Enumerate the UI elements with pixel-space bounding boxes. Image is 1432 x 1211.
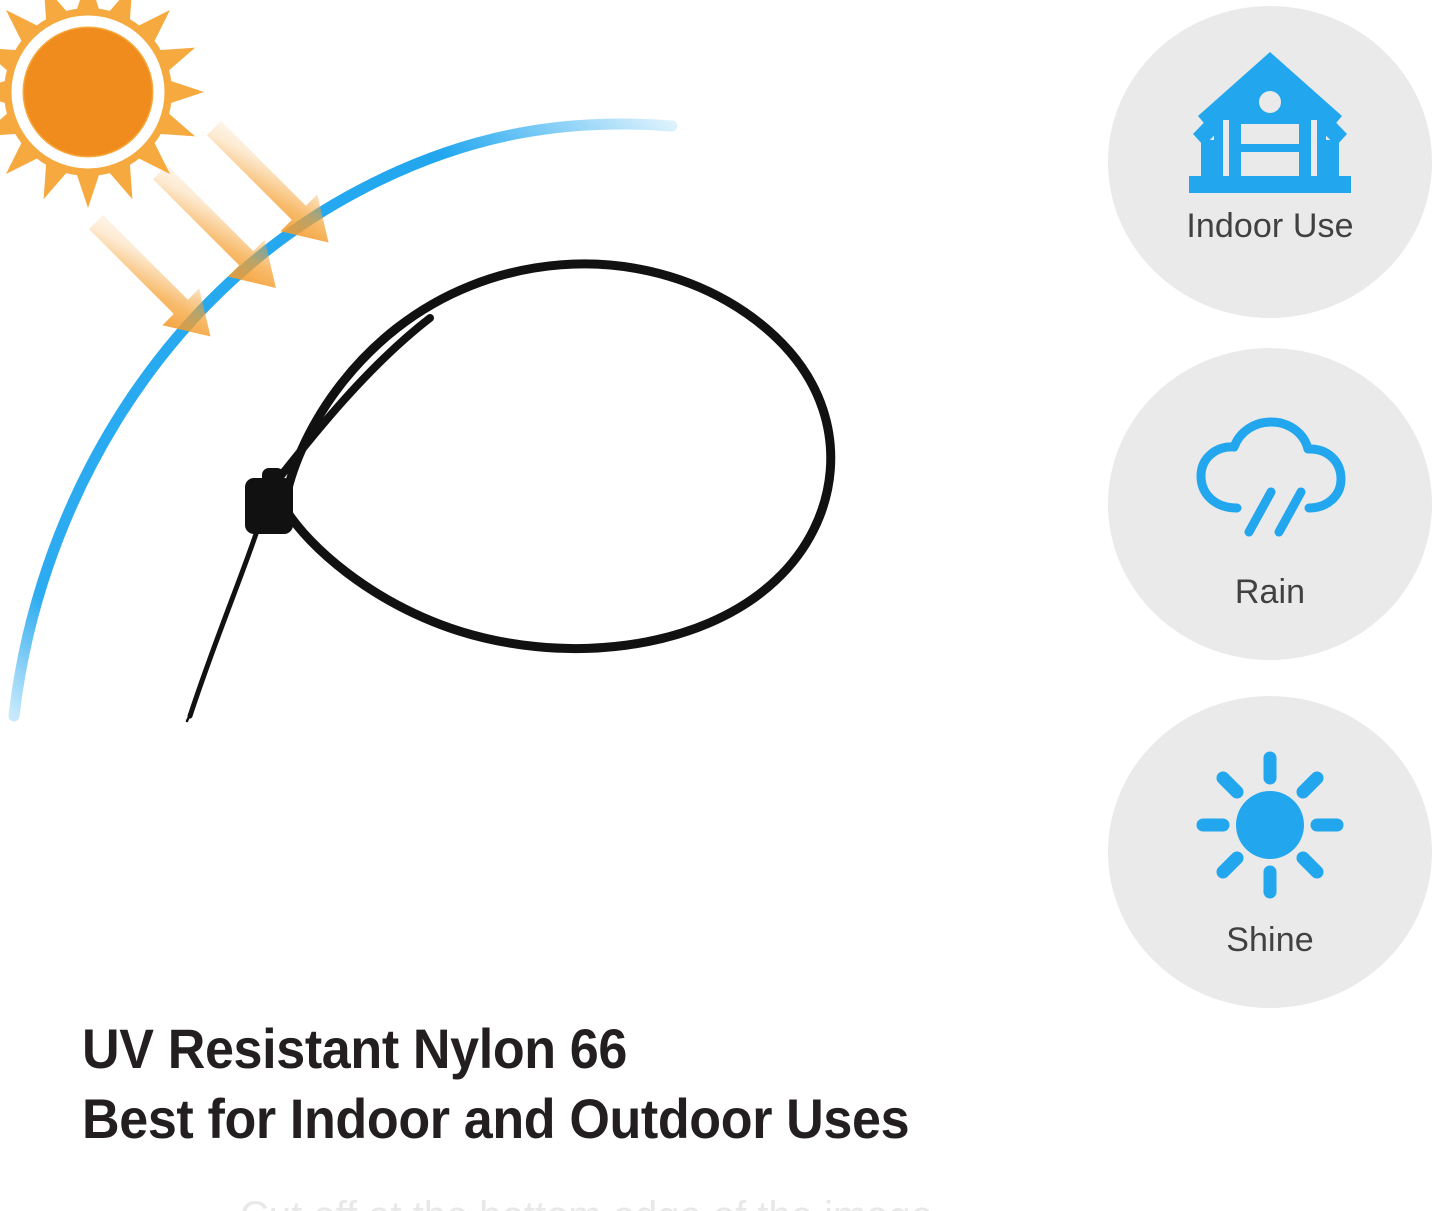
rain-cloud-icon	[1185, 406, 1355, 556]
house-icon	[1185, 48, 1355, 198]
feature-badge-indoor-use[interactable]: Indoor Use	[1108, 6, 1432, 318]
feature-badge-label: Indoor Use	[1186, 208, 1353, 245]
headline-line-2: Best for Indoor and Outdoor Uses	[82, 1084, 1012, 1154]
uv-exposure-cable-tie-illustration	[0, 0, 1100, 1000]
headline-block: UV Resistant Nylon 66 Best for Indoor an…	[82, 1014, 1082, 1154]
feature-badge-label: Rain	[1235, 574, 1305, 611]
footer-text-line: Cut off at the bottom edge of the image	[240, 1196, 1140, 1211]
sun-shine-icon	[1185, 750, 1355, 900]
feature-badge-label: Shine	[1226, 922, 1313, 959]
feature-badge-shine[interactable]: Shine	[1108, 696, 1432, 1008]
feature-badge-rain[interactable]: Rain	[1108, 348, 1432, 660]
headline-line-1: UV Resistant Nylon 66	[82, 1014, 1012, 1084]
cable-tie-loop-icon	[187, 264, 831, 721]
feature-badge-rail: Indoor Use Rain	[1108, 0, 1432, 1020]
uv-shield-arc	[14, 124, 672, 716]
clipped-footer-text: Cut off at the bottom edge of the image	[240, 1196, 1140, 1211]
product-feature-graphic: Indoor Use Rain	[0, 0, 1432, 1211]
